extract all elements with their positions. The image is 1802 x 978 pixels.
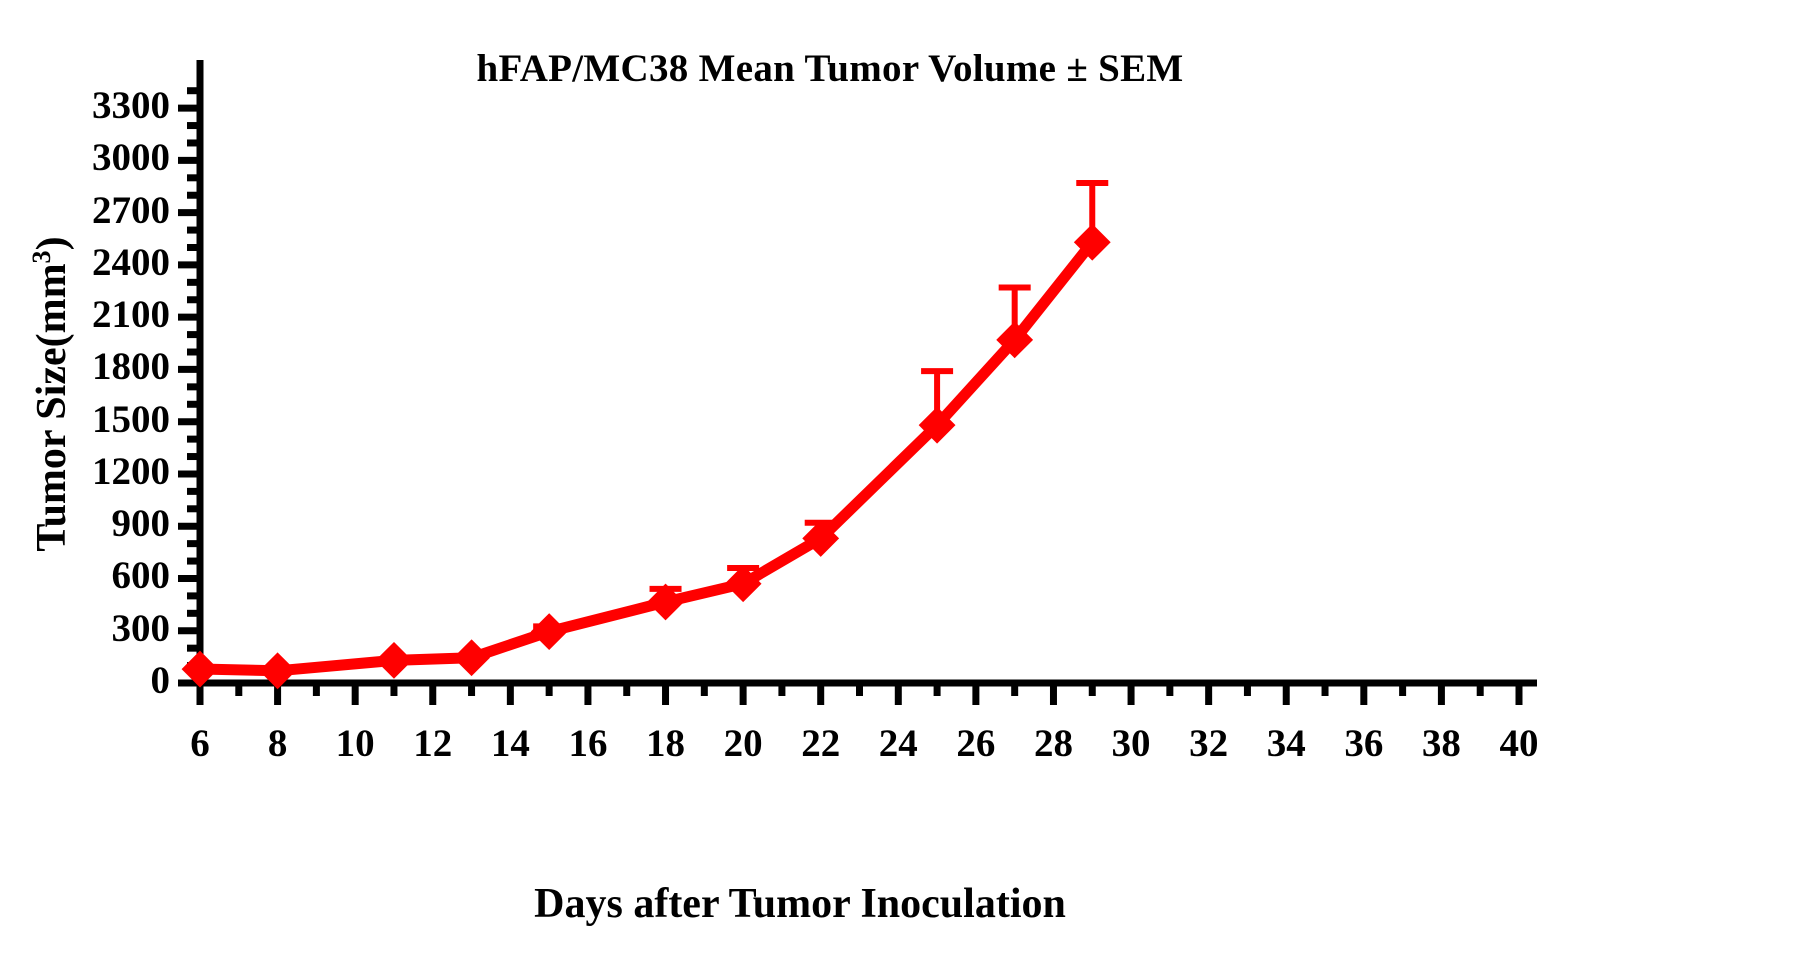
y-tick-label: 2700 (92, 188, 170, 233)
y-tick-label: 2400 (92, 240, 170, 285)
y-tick-label: 900 (112, 501, 171, 546)
y-tick-label: 0 (151, 658, 171, 703)
y-tick-label: 300 (112, 606, 171, 651)
y-tick-label: 3300 (92, 83, 170, 128)
axes-group (178, 60, 1537, 705)
y-tick-label: 600 (112, 553, 171, 598)
chart-figure: hFAP/MC38 Mean Tumor Volume ± SEM Tumor … (0, 0, 1802, 978)
data-point-marker[interactable] (455, 641, 489, 675)
x-tick-label: 40 (1469, 721, 1569, 766)
series-line-0 (200, 242, 1092, 671)
y-tick-label: 2100 (92, 292, 170, 337)
y-tick-label: 1200 (92, 449, 170, 494)
data-series-group (183, 183, 1109, 688)
data-point-marker[interactable] (377, 643, 411, 677)
y-tick-label: 3000 (92, 135, 170, 180)
data-point-marker[interactable] (532, 615, 566, 649)
y-tick-label: 1800 (92, 344, 170, 389)
y-tick-label: 1500 (92, 397, 170, 442)
plot-area (0, 0, 1802, 978)
